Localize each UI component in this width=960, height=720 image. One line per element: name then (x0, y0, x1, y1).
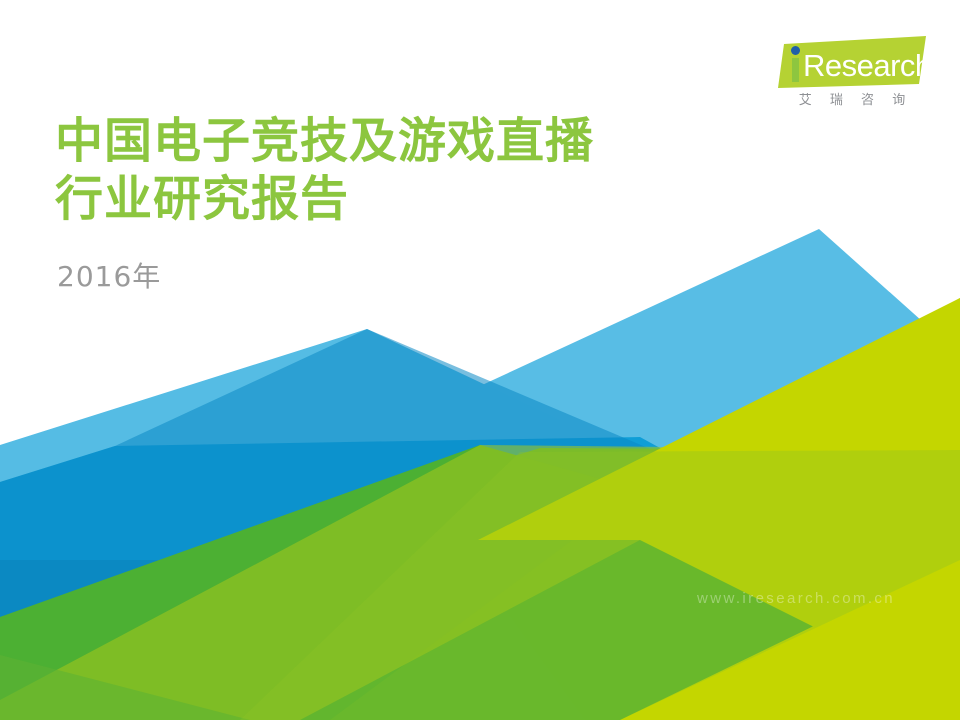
iresearch-logo: Research 艾 瑞 咨 询 (776, 36, 926, 118)
title-line-1: 中国电子竞技及游戏直播 (55, 112, 675, 170)
logo-mark: Research (776, 36, 926, 92)
title-line-2: 行业研究报告 (55, 170, 675, 228)
logo-i-dot-icon (791, 46, 800, 55)
page-title: 中国电子竞技及游戏直播 行业研究报告 (55, 112, 675, 228)
logo-i-stem-icon (792, 58, 799, 82)
presentation-slide: Research 艾 瑞 咨 询 中国电子竞技及游戏直播 行业研究报告 2016… (0, 0, 960, 720)
watermark-url: www.iresearch.com.cn (697, 589, 895, 609)
logo-wordmark: Research (803, 49, 932, 83)
logo-subtitle: 艾 瑞 咨 询 (782, 92, 922, 110)
subtitle-year: 2016年 (57, 259, 161, 295)
